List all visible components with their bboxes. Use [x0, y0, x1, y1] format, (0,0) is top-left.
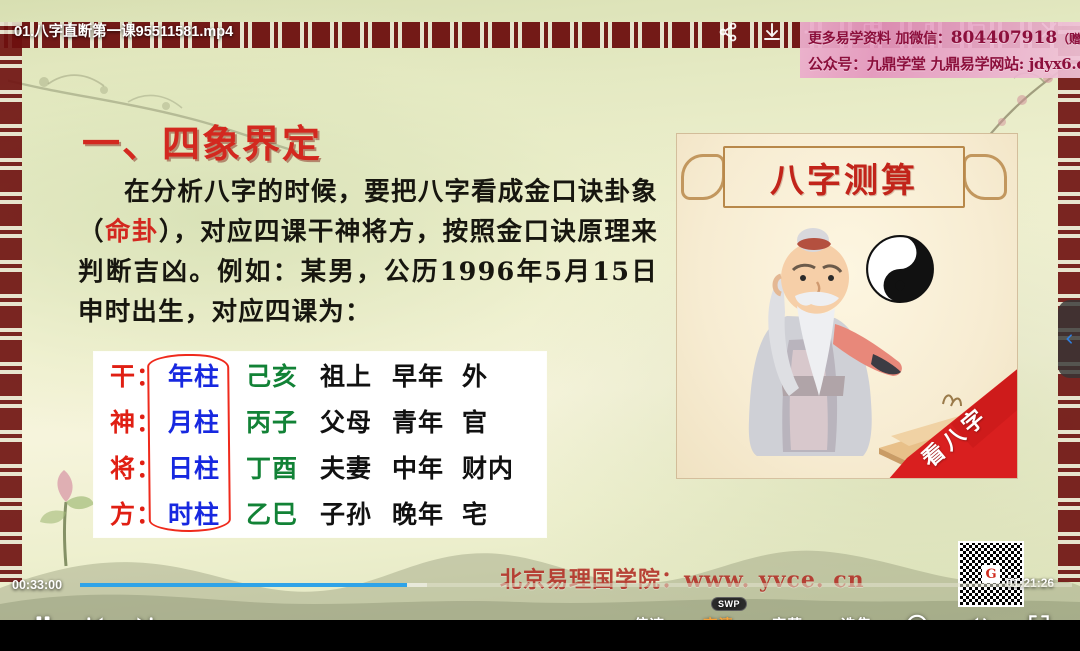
row-pillar: 年柱 [168, 357, 246, 393]
table-row: 干： 年柱 己亥 祖上 早年 外 [94, 352, 546, 398]
row-ganzhi: 丙子 [246, 403, 320, 439]
row-pillar: 时柱 [168, 495, 246, 531]
row-domain: 宅 [462, 495, 488, 531]
row-pillar: 月柱 [168, 403, 246, 439]
current-time-label: 00:33:00 [12, 578, 62, 592]
paragraph-part-2: ），对应四课干神将方，按照金口诀原理来判断吉凶。例如：某男，公历1996年5月1… [78, 217, 658, 327]
progress-bar-filled [80, 583, 407, 587]
row-age: 青年 [392, 403, 462, 439]
row-domain: 财内 [462, 449, 514, 485]
slide-paragraph: 在分析八字的时候，要把八字看成金口诀卦象（命卦），对应四课干神将方，按照金口诀原… [78, 172, 658, 332]
video-file-title: 01.八字直断第一课95511581.mp4 [14, 20, 233, 41]
row-age: 早年 [392, 357, 462, 393]
bazi-picture-card: 八字测算 [676, 133, 1018, 479]
institute-brand-line: 北京易理国学院：www. yvce. cn [500, 562, 865, 594]
chevron-left-icon [1063, 330, 1076, 348]
progress-bar-track[interactable] [80, 583, 1072, 587]
row-ganzhi: 己亥 [246, 357, 320, 393]
qr-logo: G [982, 565, 1000, 583]
row-label: 神： [110, 403, 168, 439]
row-domain: 官 [462, 403, 488, 439]
card-title: 八字测算 [770, 153, 918, 202]
table-row: 将： 日柱 丁酉 夫妻 中年 财内 [94, 444, 546, 490]
promo-wechat-number-tail: 18 [1034, 28, 1058, 48]
video-player-window: 一、四象界定 在分析八字的时候，要把八字看成金口诀卦象（命卦），对应四课干神将方… [0, 0, 1080, 651]
promo-line1-prefix: 更多易学资料 加微信： [808, 31, 951, 47]
quality-badge: SWP [711, 597, 747, 611]
promo-line1-suffix: （赠送资料） [1057, 32, 1080, 46]
row-relation: 夫妻 [320, 449, 392, 485]
row-relation: 子孙 [320, 495, 392, 531]
slide-title: 一、四象界定 [82, 113, 322, 168]
table-row: 神： 月柱 丙子 父母 青年 官 [94, 398, 546, 444]
sidebar-pull-tab[interactable] [1058, 300, 1080, 378]
row-pillar: 日柱 [168, 449, 246, 485]
decorative-key-fret-border-left [0, 22, 22, 582]
table-row: 方： 时柱 乙巳 子孙 晚年 宅 [94, 490, 546, 536]
letterbox-bottom [0, 620, 1080, 651]
card-title-frame: 八字测算 [723, 146, 965, 208]
row-label: 将： [110, 449, 168, 485]
paragraph-highlight: 命卦 [105, 217, 159, 247]
row-ganzhi: 丁酉 [246, 449, 320, 485]
row-relation: 祖上 [320, 357, 392, 393]
video-slide-surface: 一、四象界定 在分析八字的时候，要把八字看成金口诀卦象（命卦），对应四课干神将方… [0, 0, 1080, 620]
share-icon[interactable] [716, 20, 740, 44]
row-label: 方： [110, 495, 168, 531]
four-pillars-table: 干： 年柱 己亥 祖上 早年 外 神： 月柱 丙子 父母 青年 官 将： 日柱 … [94, 352, 546, 537]
promo-wechat-number: 8044079 [951, 28, 1034, 48]
download-icon[interactable] [760, 20, 784, 44]
row-age: 中年 [392, 449, 462, 485]
promo-line-1: 更多易学资料 加微信：804407918（赠送资料） [808, 26, 1074, 51]
row-age: 晚年 [392, 495, 462, 531]
row-label: 干： [110, 357, 168, 393]
row-domain: 外 [462, 357, 488, 393]
row-relation: 父母 [320, 403, 392, 439]
promo-overlay-banner: 更多易学资料 加微信：804407918（赠送资料） 公众号：九鼎学堂 九鼎易学… [800, 22, 1080, 78]
row-ganzhi: 乙巳 [246, 495, 320, 531]
promo-line-2: 公众号：九鼎学堂 九鼎易学网站: jdyx6.com [808, 51, 1074, 77]
